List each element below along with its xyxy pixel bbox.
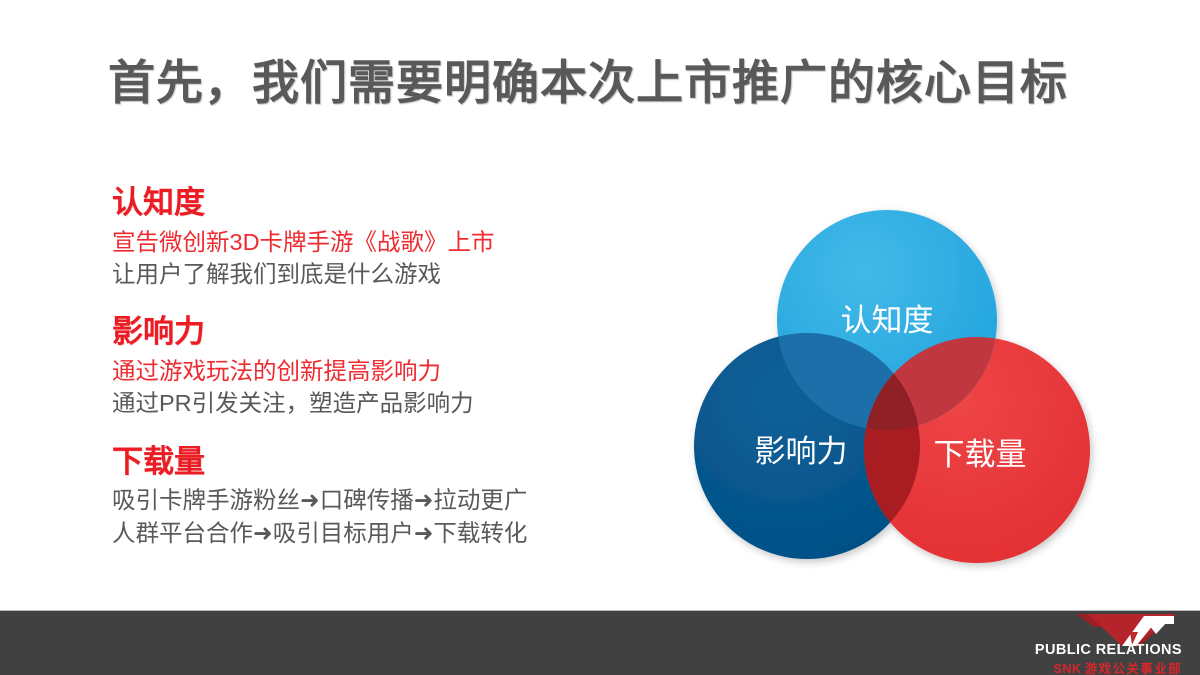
goal-line-downloads-2: 人群平台合作➜吸引目标用户➜下载转化 [112,517,632,549]
slide-canvas: 首先，我们需要明确本次上市推广的核心目标 认知度 宣告微创新3D卡牌手游《战歌》… [0,0,1200,675]
goal-heading-influence: 影响力 [112,314,632,351]
logo-department-cn: 游戏公关事业部 [1085,662,1182,675]
logo-text-english: PUBLIC RELATIONS [1035,642,1182,658]
page-title: 首先，我们需要明确本次上市推广的核心目标 [108,44,1068,113]
goal-line-downloads-1: 吸引卡牌手游粉丝➜口碑传播➜拉动更广 [112,484,632,516]
goals-list: 认知度 宣告微创新3D卡牌手游《战歌》上市 让用户了解我们到底是什么游戏 影响力… [112,185,632,549]
goal-line-influence-1: 通过游戏玩法的创新提高影响力 [112,355,632,387]
goal-block-downloads: 下载量 吸引卡牌手游粉丝➜口碑传播➜拉动更广 人群平台合作➜吸引目标用户➜下载转… [112,444,632,549]
goal-block-awareness: 认知度 宣告微创新3D卡牌手游《战歌》上市 让用户了解我们到底是什么游戏 [112,185,632,290]
goal-line-awareness-1: 宣告微创新3D卡牌手游《战歌》上市 [112,226,632,258]
goal-line-awareness-2: 让用户了解我们到底是什么游戏 [112,258,632,290]
goal-block-influence: 影响力 通过游戏玩法的创新提高影响力 通过PR引发关注，塑造产品影响力 [112,314,632,419]
venn-diagram: 认知度 影响力 下载量 [650,180,1110,600]
logo-text-chinese: SNK游戏公关事业部 [1053,658,1182,675]
goal-heading-downloads: 下载量 [112,444,632,481]
logo-brand-snk: SNK [1053,662,1081,675]
venn-label-influence: 影响力 [755,434,848,469]
snk-pr-chevron-logo-icon [1070,612,1182,646]
venn-label-downloads: 下载量 [934,437,1027,472]
goal-line-influence-2: 通过PR引发关注，塑造产品影响力 [112,387,632,419]
goal-heading-awareness: 认知度 [112,185,632,222]
footer-logo: PUBLIC RELATIONS SNK游戏公关事业部 [1014,612,1184,674]
venn-label-awareness: 认知度 [841,303,934,338]
